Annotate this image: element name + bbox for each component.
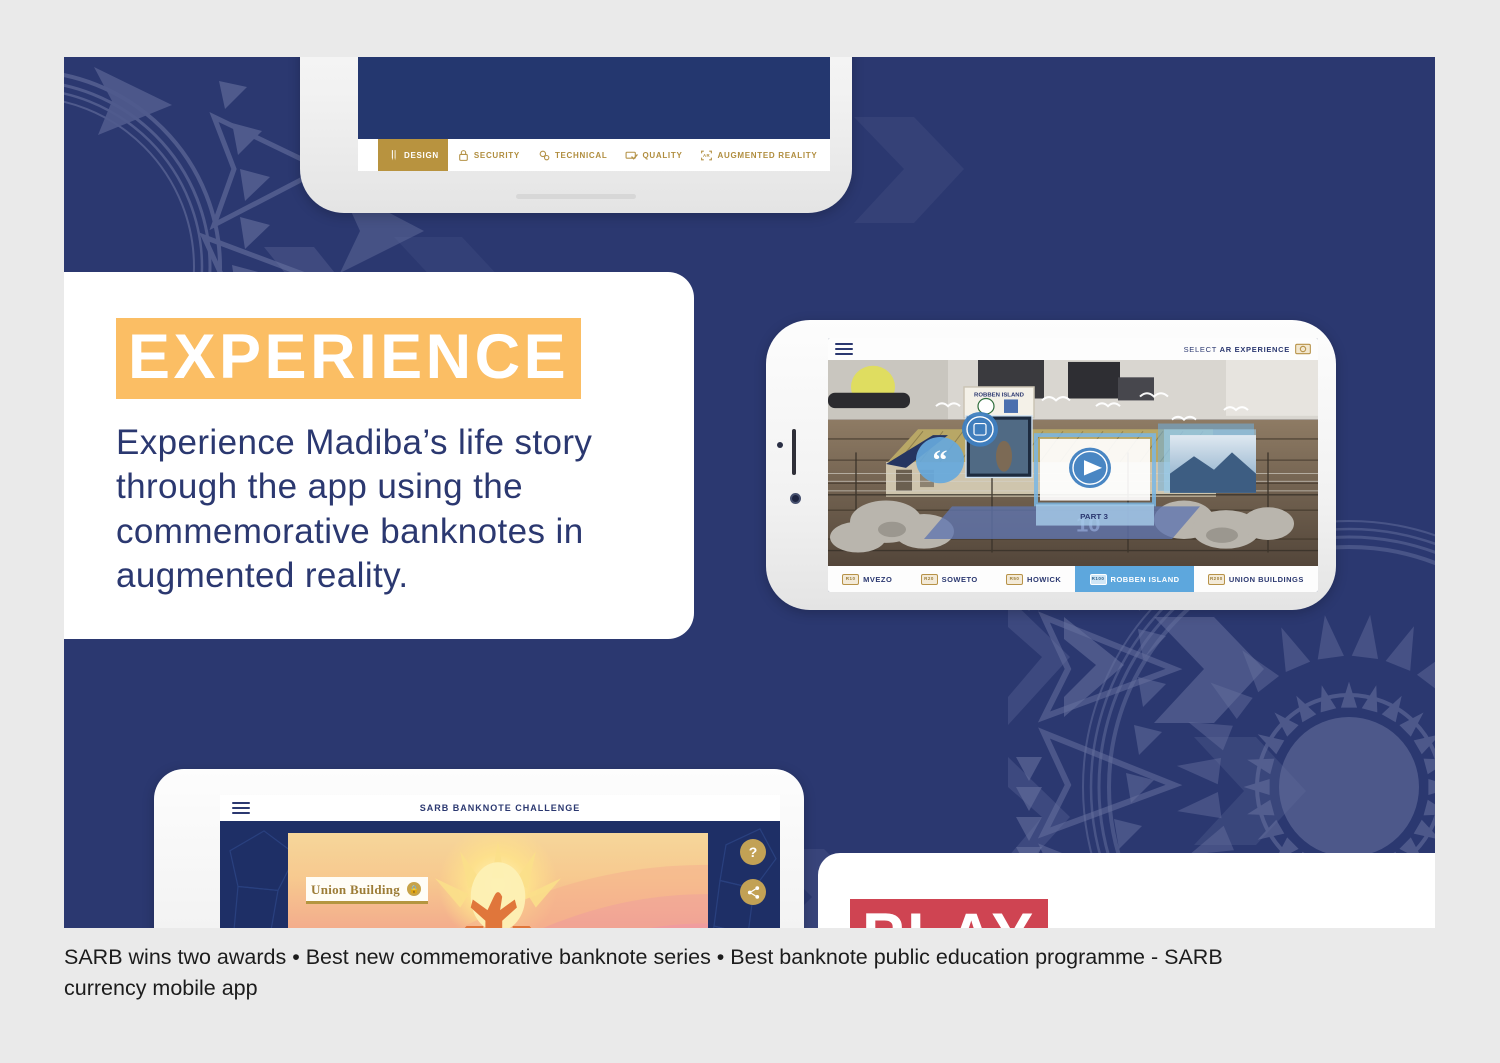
tablet-screen-game: SARB BANKNOTE CHALLENGE: [220, 795, 780, 928]
feature-tabbar: DESIGN SECURITY: [358, 139, 830, 171]
denomination-chip: R200: [1208, 574, 1225, 585]
svg-text:ROBBEN ISLAND: ROBBEN ISLAND: [974, 393, 1024, 399]
tablet-device-game: SARB BANKNOTE CHALLENGE: [154, 769, 804, 928]
phone-screen-features: ❮ NEXT FEATURE ❯ DESIGN: [358, 57, 830, 171]
experience-card: EXPERIENCE Experience Madiba’s life stor…: [64, 272, 694, 639]
hamburger-menu-icon[interactable]: [835, 343, 853, 355]
phone-device-features: ❮ NEXT FEATURE ❯ DESIGN: [300, 57, 852, 213]
help-button[interactable]: ?: [740, 839, 766, 865]
share-button[interactable]: [740, 879, 766, 905]
ar-part-label: PART 3: [1080, 512, 1108, 521]
ar-tab-label: MVEZO: [863, 575, 892, 584]
game-title: SARB BANKNOTE CHALLENGE: [232, 803, 768, 813]
banknote-check-icon: [625, 149, 638, 162]
tab-label: QUALITY: [642, 151, 682, 160]
select-ar-experience-label: SELECT AR EXPERIENCE: [1184, 345, 1290, 354]
ar-tab-label: SOWETO: [942, 575, 978, 584]
denomination-chip: R20: [921, 574, 938, 585]
ar-tab-howick[interactable]: R50 HOWICK: [992, 566, 1076, 592]
denomination-chip: R50: [1006, 574, 1023, 585]
ar-camera-scene[interactable]: 10 ROBBEN ISLAND “: [828, 360, 1318, 566]
ar-bracket-icon: AR: [700, 149, 713, 162]
ar-tab-label: ROBBEN ISLAND: [1111, 575, 1180, 584]
page-caption: SARB wins two awards • Best new commemor…: [64, 942, 1264, 1003]
play-title: PLAY: [850, 899, 1048, 928]
phone-screen-ar: SELECT AR EXPERIENCE: [828, 338, 1318, 592]
lock-icon: [457, 149, 470, 162]
phone-body-ar: SELECT AR EXPERIENCE: [766, 320, 1336, 610]
proximity-sensor: [777, 442, 783, 448]
home-indicator: [516, 194, 636, 199]
denomination-chip: R100: [1090, 574, 1107, 585]
ar-app-header: SELECT AR EXPERIENCE: [828, 338, 1318, 360]
front-camera-icon: [790, 493, 801, 504]
ar-tab-robben-island[interactable]: R100 ROBBEN ISLAND: [1075, 566, 1193, 592]
tablet-body: SARB BANKNOTE CHALLENGE: [154, 769, 804, 928]
tab-design[interactable]: DESIGN: [378, 139, 448, 171]
ar-tab-label: UNION BUILDINGS: [1229, 575, 1304, 584]
game-side-buttons: ?: [740, 839, 766, 905]
ar-experience-tabbar: R10 MVEZO R20 SOWETO R50 HOWICK R100 ROB…: [828, 566, 1318, 592]
play-card: PLAY: [818, 853, 1435, 928]
phone-device-ar: SELECT AR EXPERIENCE: [766, 320, 1336, 610]
pen-icon: [387, 149, 400, 162]
svg-text:AR: AR: [703, 153, 711, 158]
hero-panel: ❮ NEXT FEATURE ❯ DESIGN: [64, 57, 1435, 928]
tab-label: DESIGN: [404, 151, 439, 160]
tab-augmented-reality[interactable]: AR AUGMENTED REALITY: [691, 139, 826, 171]
tab-quality[interactable]: QUALITY: [616, 139, 691, 171]
share-icon: [746, 885, 761, 900]
denomination-chip: R10: [842, 574, 859, 585]
ar-tab-label: HOWICK: [1027, 575, 1061, 584]
phone-body: ❮ NEXT FEATURE ❯ DESIGN: [300, 57, 852, 213]
game-illustration[interactable]: Union Building 🔒 Robben Island 🔒 Howick …: [288, 833, 708, 928]
earpiece-speaker: [792, 429, 796, 475]
experience-body: Experience Madiba’s life story through t…: [116, 421, 654, 599]
padlock-icon: 🔒: [405, 880, 423, 898]
game-map-area[interactable]: Union Building 🔒 Robben Island 🔒 Howick …: [220, 821, 780, 928]
question-mark-icon: ?: [749, 844, 758, 860]
ar-tab-soweto[interactable]: R20 SOWETO: [906, 566, 991, 592]
map-pin-union-building[interactable]: Union Building 🔒: [306, 877, 428, 904]
svg-text:“: “: [933, 445, 948, 476]
tab-label: TECHNICAL: [555, 151, 608, 160]
pin-label: Union Building: [311, 883, 400, 896]
select-text: SELECT: [1184, 345, 1220, 354]
tab-label: SECURITY: [474, 151, 520, 160]
ar-experience-text: AR EXPERIENCE: [1220, 345, 1290, 354]
tab-security[interactable]: SECURITY: [448, 139, 529, 171]
experience-title: EXPERIENCE: [116, 318, 581, 399]
ar-tab-union-buildings[interactable]: R200 UNION BUILDINGS: [1194, 566, 1318, 592]
tab-label: AUGMENTED REALITY: [717, 151, 817, 160]
gears-icon: [538, 149, 551, 162]
ar-header-right[interactable]: SELECT AR EXPERIENCE: [1184, 343, 1311, 355]
game-app-header: SARB BANKNOTE CHALLENGE: [220, 795, 780, 821]
ar-tab-mvezo[interactable]: R10 MVEZO: [828, 566, 906, 592]
banknote-camera-icon[interactable]: [1295, 343, 1311, 355]
ar-scene-graphic: 10 ROBBEN ISLAND “: [828, 360, 1318, 566]
tab-technical[interactable]: TECHNICAL: [529, 139, 617, 171]
